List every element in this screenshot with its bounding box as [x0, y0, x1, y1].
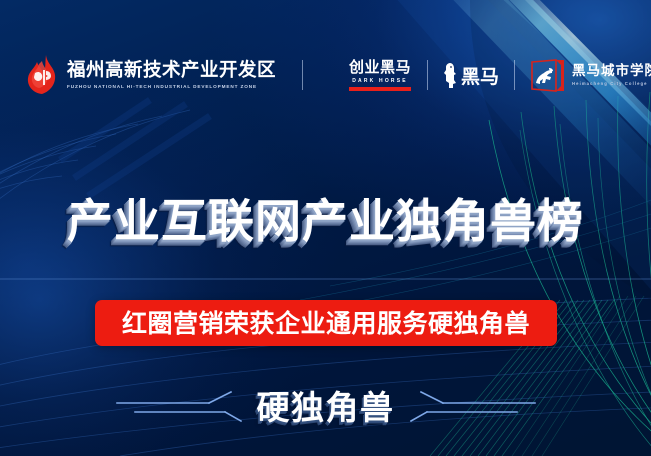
right-chevron-ornament-icon: [409, 387, 539, 427]
logo-fuzhou-hi-tech-zone: 福州高新技术产业开发区 FUZHOU NATIONAL HI-TECH INDU…: [26, 55, 276, 95]
logo-dark-horse-cn: 创业黑马: [349, 59, 411, 76]
horse-in-red-frame-icon: [530, 59, 566, 92]
logo-dark-horse-en: DARK HORSE: [352, 78, 408, 84]
award-label: 硬独角兽: [243, 391, 409, 424]
award-red-banner: 红圈营销荣获企业通用服务硬独角兽: [95, 300, 557, 346]
header-logo-bar: 福州高新技术产业开发区 FUZHOU NATIONAL HI-TECH INDU…: [0, 44, 651, 106]
logo-dark-horse-underline: [349, 87, 411, 91]
left-chevron-ornament-icon: [113, 387, 243, 427]
red-flame-cip-icon: [26, 55, 60, 95]
logo-heima-city-college: 黑马城市学院 Heimacheng City College: [530, 59, 651, 92]
logo-college-cn: 黑马城市学院: [572, 64, 651, 79]
logo-college-en: Heimacheng City College: [572, 81, 651, 86]
logo-fuzhou-cn: 福州高新技术产业开发区: [67, 61, 276, 82]
main-title: 产业互联网产业独角兽榜: [0, 198, 651, 244]
poster-canvas: 福州高新技术产业开发区 FUZHOU NATIONAL HI-TECH INDU…: [0, 0, 651, 456]
logo-divider-2: [427, 60, 428, 90]
logo-heima: 黑马: [443, 62, 499, 89]
white-horse-icon: [443, 62, 458, 89]
award-red-banner-text: 红圈营销荣获企业通用服务硬独角兽: [122, 311, 530, 336]
logo-dark-horse: 创业黑马 DARK HORSE: [349, 59, 411, 91]
logo-heima-cn: 黑马: [461, 62, 499, 89]
award-label-row: 硬独角兽: [0, 380, 651, 434]
logo-divider-3: [514, 60, 515, 90]
logo-divider-1: [302, 60, 303, 90]
logo-fuzhou-en: FUZHOU NATIONAL HI-TECH INDUSTRIAL DEVEL…: [67, 84, 280, 89]
